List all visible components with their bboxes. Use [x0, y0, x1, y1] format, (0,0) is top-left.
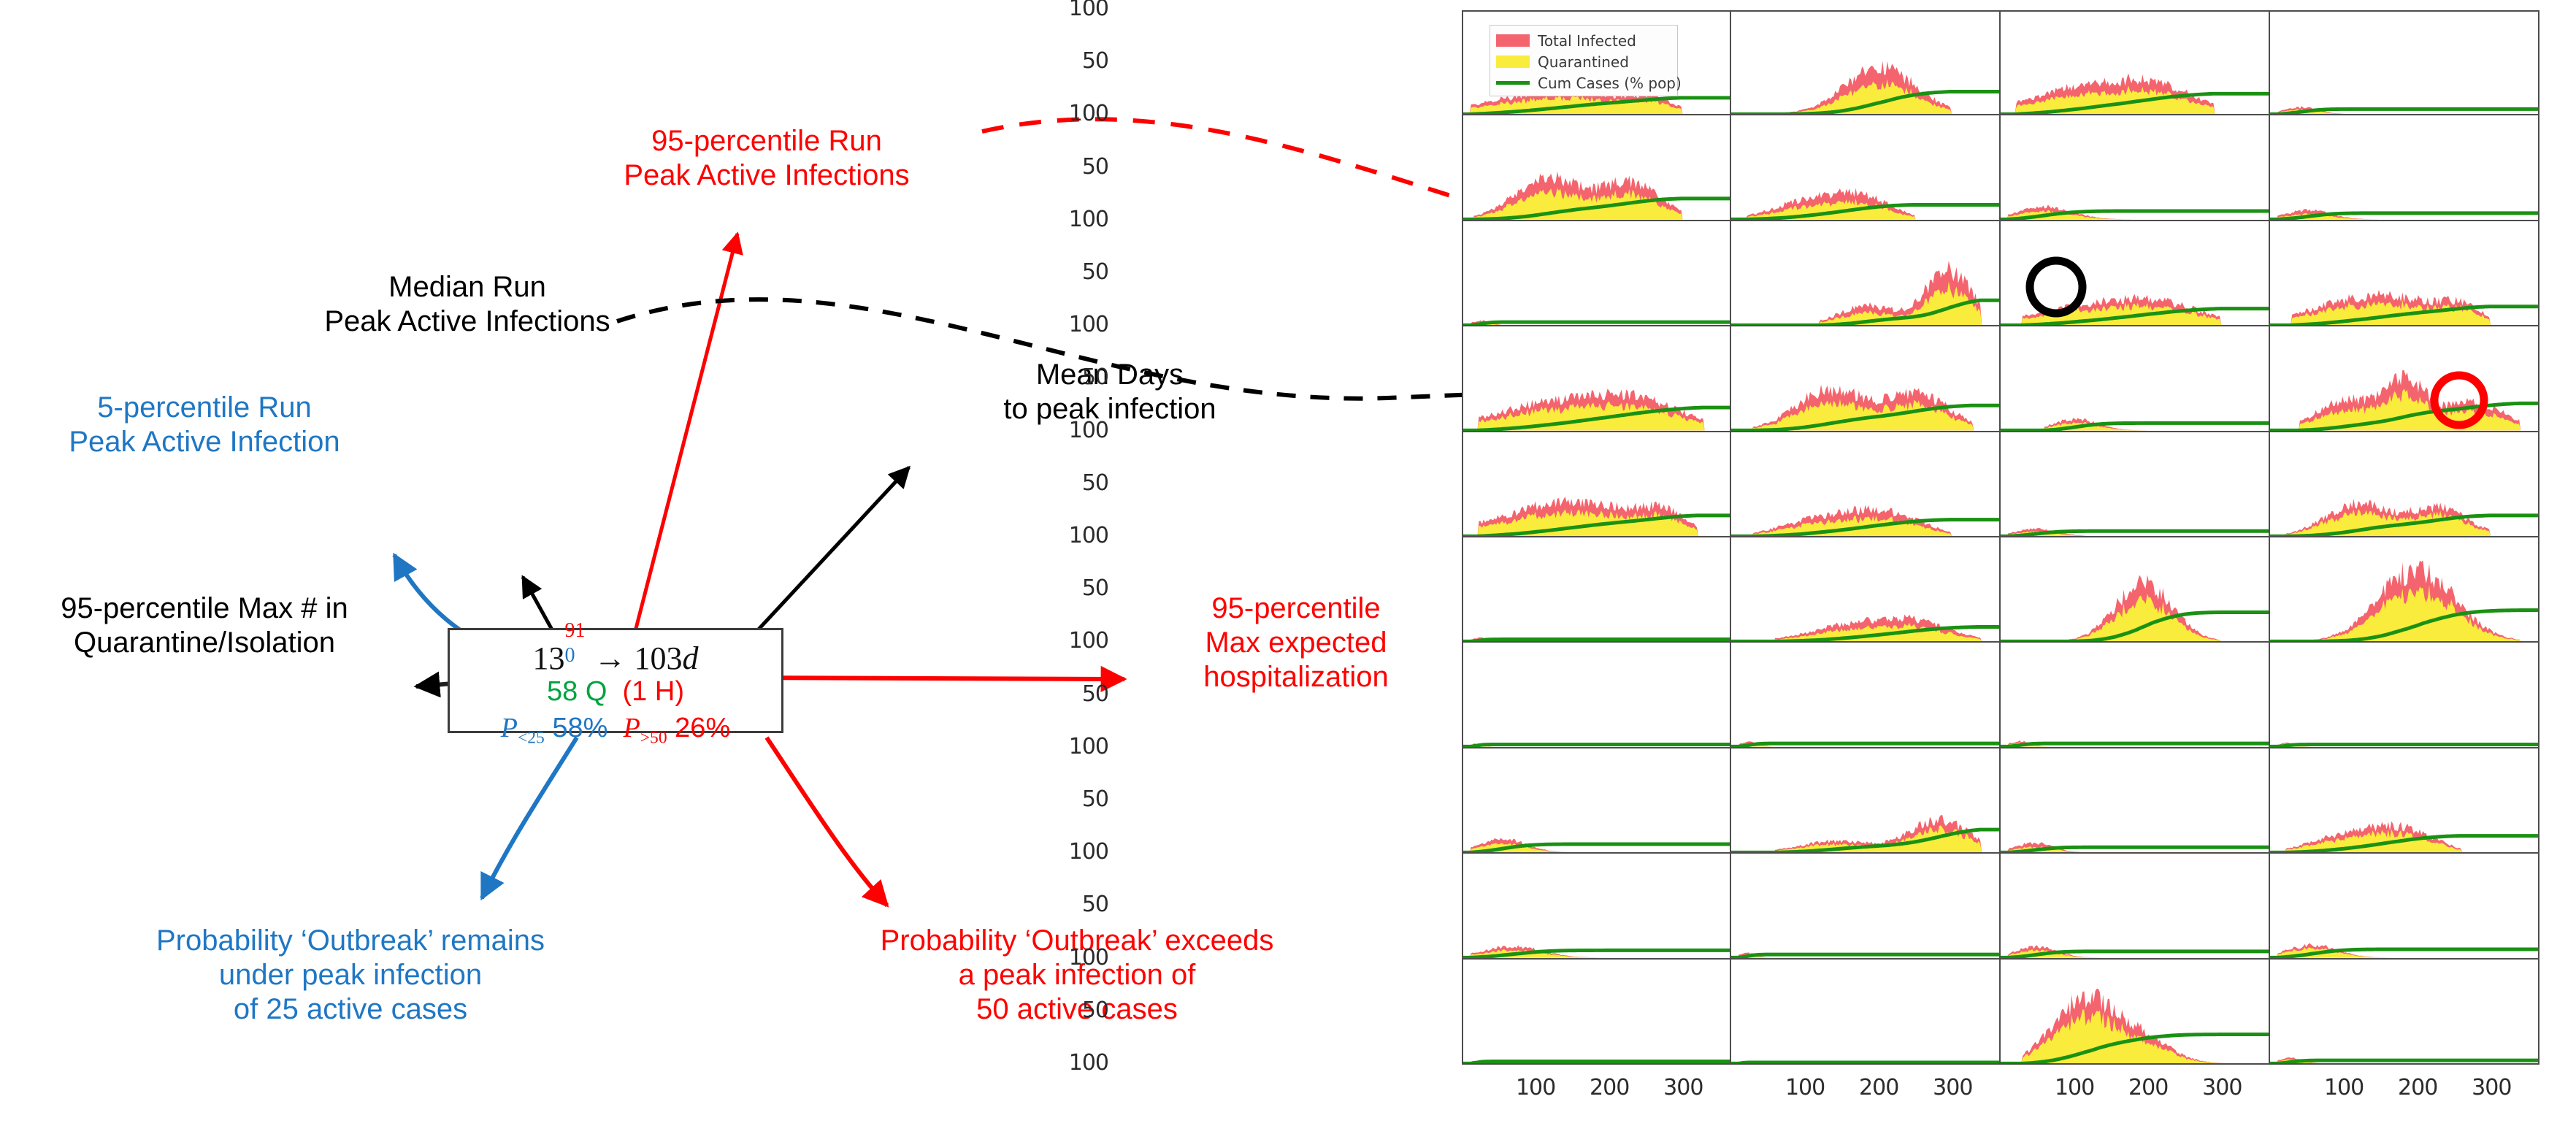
run-panel-r8-c2 — [2001, 854, 2270, 959]
panel-container — [1462, 10, 2539, 1065]
p95-peak-value: 91 — [565, 619, 586, 643]
x-tick-label: 200 — [2115, 1075, 2181, 1100]
y-tick-label: 100 — [1021, 207, 1108, 232]
run-panel-r4-c1 — [1731, 432, 2001, 537]
y-tick-label: 50 — [1021, 364, 1108, 390]
mean-days-value: 103 — [635, 640, 683, 676]
run-panel-r1-c2 — [2001, 115, 2270, 221]
y-tick-label: 50 — [1021, 786, 1108, 812]
run-panel-r8-c1 — [1731, 854, 2001, 959]
legend-color-swatch — [1496, 34, 1530, 47]
run-panel-r4-c2 — [2001, 432, 2270, 537]
y-tick-label: 50 — [1021, 575, 1108, 601]
y-tick-label: 100 — [1021, 101, 1108, 126]
run-panel-r8-c3 — [2270, 854, 2539, 959]
peak-range-supsub: 910 — [565, 637, 594, 669]
legend-color-swatch — [1496, 55, 1530, 68]
run-panel-r7-c0 — [1462, 748, 1731, 854]
run-panel-r6-c2 — [2001, 643, 2270, 748]
run-panel-r8-c0 — [1462, 854, 1731, 959]
legend-line-swatch — [1496, 81, 1530, 85]
run-panel-r5-c1 — [1731, 537, 2001, 643]
y-tick-label: 50 — [1021, 154, 1108, 180]
p-high-value: 26% — [675, 713, 730, 743]
x-tick-label: 100 — [1503, 1075, 1568, 1100]
run-panel-r0-c3 — [2270, 10, 2539, 115]
hospitalization-value: (1 H) — [623, 676, 684, 707]
run-panel-r5-c0 — [1462, 537, 1731, 643]
run-panel-r2-c2 — [2001, 221, 2270, 326]
y-tick-label: 50 — [1021, 470, 1108, 496]
legend-label: Quarantined — [1538, 53, 1629, 71]
quarantine-unit: Q — [586, 676, 607, 707]
annotation-p95-quarantine: 95-percentile Max # in Quarantine/Isolat… — [0, 591, 416, 660]
x-tick-label: 200 — [1576, 1075, 1642, 1100]
x-tick-label: 100 — [2042, 1075, 2107, 1100]
run-panel-r9-c2 — [2001, 960, 2270, 1065]
y-tick-label: 100 — [1021, 523, 1108, 548]
y-tick-label: 50 — [1021, 259, 1108, 285]
y-tick-label: 50 — [1021, 892, 1108, 917]
y-tick-label: 100 — [1021, 1050, 1108, 1076]
run-panel-r7-c3 — [2270, 748, 2539, 854]
run-panel-r7-c1 — [1731, 748, 2001, 854]
legend-label: Total Infected — [1538, 32, 1636, 50]
run-panel-r5-c2 — [2001, 537, 2270, 643]
run-panel-r3-c3 — [2270, 326, 2539, 432]
run-panel-r9-c0 — [1462, 960, 1731, 1065]
run-panel-r0-c1 — [1731, 10, 2001, 115]
quarantine-value: 58 — [547, 676, 578, 707]
run-panel-r6-c3 — [2270, 643, 2539, 748]
y-tick-label: 100 — [1021, 312, 1108, 337]
x-tick-label: 200 — [2385, 1075, 2450, 1100]
annotation-p95-run: 95-percentile Run Peak Active Infections — [562, 124, 971, 193]
y-tick-label: 100 — [1021, 418, 1108, 443]
x-tick-label: 300 — [2189, 1075, 2255, 1100]
x-tick-label: 100 — [2311, 1075, 2377, 1100]
run-panel-r3-c0 — [1462, 326, 1731, 432]
run-panel-r5-c3 — [2270, 537, 2539, 643]
p-high-label: P>50 — [624, 713, 667, 743]
run-panel-r3-c1 — [1731, 326, 2001, 432]
run-panel-r7-c2 — [2001, 748, 2270, 854]
y-tick-label: 100 — [1021, 734, 1108, 759]
annotation-mean-days: Mean Days to peak infection — [905, 358, 1314, 426]
run-panel-r3-c2 — [2001, 326, 2270, 432]
annotation-p95-hospitalization: 95-percentile Max expected hospitalizati… — [1124, 591, 1468, 695]
y-tick-label: 50 — [1021, 997, 1108, 1023]
simulation-run-grid — [1462, 10, 2539, 1065]
arrow-glyph: → — [594, 640, 626, 676]
run-panel-r4-c3 — [2270, 432, 2539, 537]
run-panel-r6-c1 — [1731, 643, 2001, 748]
annotation-prob-under: Probability ‘Outbreak’ remains under pea… — [69, 924, 632, 1027]
annotation-median-run: Median Run Peak Active Infections — [241, 270, 694, 339]
x-tick-label: 300 — [2458, 1075, 2524, 1100]
y-tick-label: 100 — [1021, 0, 1108, 21]
run-panel-r2-c0 — [1462, 221, 1731, 326]
metric-row-peaks: 13910→ 103d — [450, 637, 781, 677]
metric-row-probabilities: P<25 58% P>50 26% — [450, 712, 781, 748]
run-panel-r4-c0 — [1462, 432, 1731, 537]
y-tick-label: 100 — [1021, 628, 1108, 654]
x-tick-label: 100 — [1772, 1075, 1838, 1100]
chart-legend: Total InfectedQuarantinedCum Cases (% po… — [1490, 25, 1678, 96]
y-tick-label: 50 — [1021, 681, 1108, 707]
run-panel-r1-c0 — [1462, 115, 1731, 221]
legend-item: Quarantined — [1496, 51, 1671, 72]
run-panel-r9-c1 — [1731, 960, 2001, 1065]
y-tick-label: 50 — [1021, 48, 1108, 74]
legend-item: Total Infected — [1496, 30, 1671, 51]
y-tick-label: 100 — [1021, 839, 1108, 865]
y-tick-label: 100 — [1021, 945, 1108, 970]
run-panel-r2-c3 — [2270, 221, 2539, 326]
p-low-label: P<25 — [501, 713, 545, 743]
metric-row-quarantine: 58 Q (1 H) — [450, 676, 781, 708]
annotation-p5-run: 5-percentile Run Peak Active Infection — [0, 391, 409, 459]
x-tick-label: 300 — [1920, 1075, 1985, 1100]
legend-item: Cum Cases (% pop) — [1496, 72, 1671, 93]
median-peak-value: 13 — [533, 640, 565, 676]
p-low-value: 58% — [552, 713, 607, 743]
run-panel-r9-c3 — [2270, 960, 2539, 1065]
p5-peak-value: 0 — [565, 644, 575, 667]
run-panel-r1-c3 — [2270, 115, 2539, 221]
run-panel-r2-c1 — [1731, 221, 2001, 326]
legend-label: Cum Cases (% pop) — [1538, 74, 1682, 92]
run-panel-r1-c1 — [1731, 115, 2001, 221]
days-unit: d — [683, 640, 699, 676]
x-tick-label: 200 — [1846, 1075, 1912, 1100]
metric-summary-box: 13910→ 103d 58 Q (1 H) P<25 58% P>50 26% — [448, 628, 783, 733]
x-tick-label: 300 — [1650, 1075, 1716, 1100]
run-panel-r6-c0 — [1462, 643, 1731, 748]
run-panel-r0-c2 — [2001, 10, 2270, 115]
